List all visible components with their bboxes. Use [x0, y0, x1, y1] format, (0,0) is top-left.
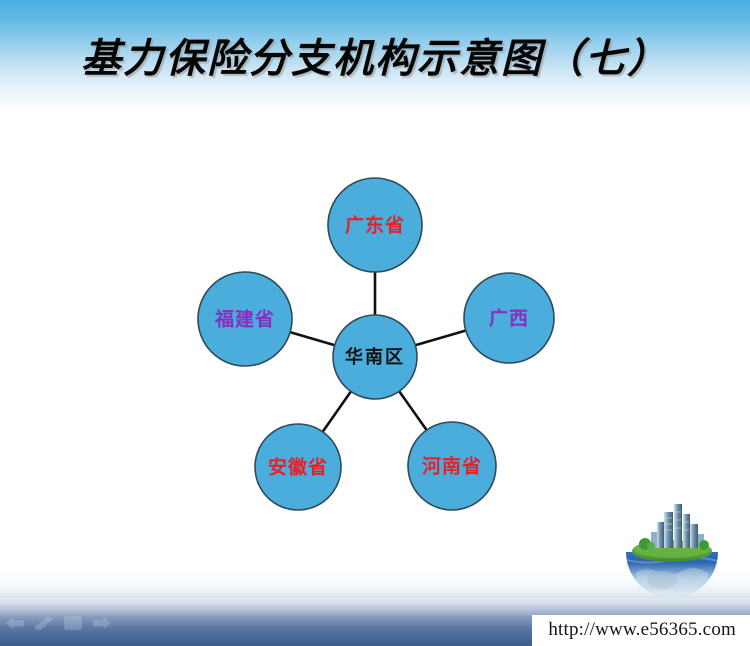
globe-city-icon [618, 494, 726, 606]
diagram-nodes: 广东省广西福建省安徽省河南省华南区 [198, 178, 554, 510]
back-arrow-icon [6, 616, 24, 630]
node-guangdong[interactable]: 广东省 [328, 178, 422, 272]
ghost-toolbar-icons [6, 612, 116, 634]
node-henan[interactable]: 河南省 [408, 422, 496, 510]
watermark-url: http://www.e56365.com [532, 615, 750, 646]
connector-fujian [289, 332, 335, 346]
forward-arrow-icon [93, 616, 111, 630]
node-guangxi[interactable]: 广西 [464, 273, 554, 363]
node-fujian[interactable]: 福建省 [198, 272, 292, 366]
connector-henan [399, 390, 428, 430]
pen-icon [35, 616, 53, 630]
node-label-anhui: 安徽省 [268, 456, 328, 479]
node-center[interactable]: 华南区 [333, 315, 417, 399]
connector-anhui [322, 391, 351, 433]
node-label-center: 华南区 [345, 346, 405, 368]
node-label-guangxi: 广西 [489, 307, 529, 330]
node-label-guangdong: 广东省 [345, 214, 405, 237]
node-label-henan: 河南省 [422, 456, 482, 478]
square-icon [64, 616, 82, 630]
node-label-fujian: 福建省 [214, 308, 275, 331]
connector-guangxi [414, 330, 466, 345]
slide-canvas: 基力保险分支机构示意图（七） 广东省广西福建省安徽省河南省华南区 [0, 0, 750, 646]
node-anhui[interactable]: 安徽省 [255, 424, 341, 510]
